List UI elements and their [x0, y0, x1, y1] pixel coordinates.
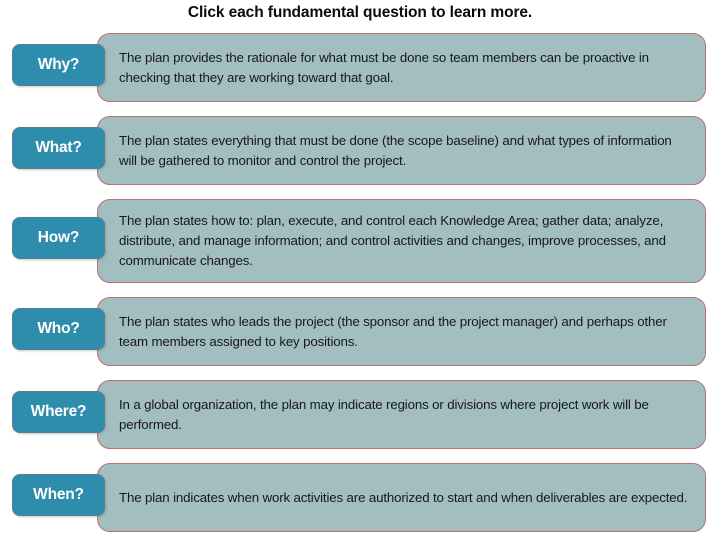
answer-panel-why: The plan provides the rationale for what…	[97, 33, 706, 102]
question-row-what: The plan states everything that must be …	[0, 110, 720, 185]
question-row-when: The plan indicates when work activities …	[0, 457, 720, 532]
question-row-where: In a global organization, the plan may i…	[0, 374, 720, 449]
infographic-stage: Click each fundamental question to learn…	[0, 0, 720, 540]
question-button-when[interactable]: When?	[12, 474, 105, 516]
answer-panel-who: The plan states who leads the project (t…	[97, 297, 706, 366]
question-button-where[interactable]: Where?	[12, 391, 105, 433]
answer-text-what: The plan states everything that must be …	[119, 131, 689, 171]
answer-text-when: The plan indicates when work activities …	[119, 488, 689, 508]
question-button-label-why: Why?	[13, 56, 104, 74]
question-row-who: The plan states who leads the project (t…	[0, 291, 720, 366]
answer-panel-where: In a global organization, the plan may i…	[97, 380, 706, 449]
answer-panel-when: The plan indicates when work activities …	[97, 463, 706, 532]
question-button-label-how: How?	[13, 229, 104, 247]
question-row-why: The plan provides the rationale for what…	[0, 27, 720, 102]
question-button-label-who: Who?	[13, 320, 104, 338]
question-list: The plan provides the rationale for what…	[0, 27, 720, 540]
answer-panel-what: The plan states everything that must be …	[97, 116, 706, 185]
question-button-label-when: When?	[13, 486, 104, 504]
question-button-label-what: What?	[13, 139, 104, 157]
page-title: Click each fundamental question to learn…	[0, 3, 720, 23]
question-button-how[interactable]: How?	[12, 217, 105, 259]
answer-text-where: In a global organization, the plan may i…	[119, 395, 689, 435]
question-row-how: The plan states how to: plan, execute, a…	[0, 193, 720, 283]
question-button-label-where: Where?	[13, 403, 104, 421]
answer-text-why: The plan provides the rationale for what…	[119, 48, 689, 88]
question-button-what[interactable]: What?	[12, 127, 105, 169]
answer-text-how: The plan states how to: plan, execute, a…	[119, 211, 689, 271]
answer-panel-how: The plan states how to: plan, execute, a…	[97, 199, 706, 283]
question-button-who[interactable]: Who?	[12, 308, 105, 350]
answer-text-who: The plan states who leads the project (t…	[119, 312, 689, 352]
question-button-why[interactable]: Why?	[12, 44, 105, 86]
